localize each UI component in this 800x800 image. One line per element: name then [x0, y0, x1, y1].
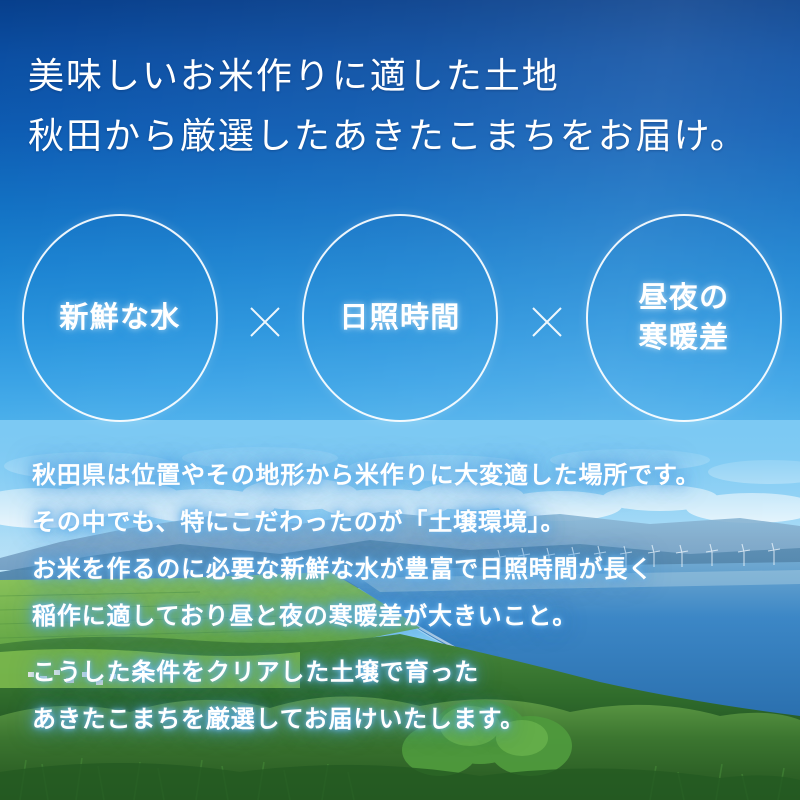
body-copy: 秋田県は位置やその地形から米作りに大変適した場所です。 その中でも、特にこだわっ…	[32, 452, 772, 743]
multiply-icon-2	[527, 302, 567, 342]
headline-line-2: 秋田から厳選したあきたこまちをお届け。	[28, 106, 772, 166]
body-line-3: お米を作るのに必要な新鮮な水が豊富で日照時間が長く	[32, 546, 772, 593]
factor-circle-fresh-water: 新鮮な水	[22, 214, 218, 422]
body-line-6: あきたこまちを厳選してお届けいたします。	[32, 696, 772, 743]
factor-circle-temp-range: 昼夜の 寒暖差	[586, 214, 782, 422]
headline-line-1: 美味しいお米作りに適した土地	[28, 46, 772, 106]
factor-label-fresh-water: 新鮮な水	[59, 298, 180, 338]
body-line-4: 稲作に適しており昼と夜の寒暖差が大きいこと。	[32, 593, 772, 640]
headline: 美味しいお米作りに適した土地 秋田から厳選したあきたこまちをお届け。	[28, 46, 772, 166]
factor-label-temp-range-line-1: 昼夜の	[639, 278, 730, 318]
body-line-5: こうした条件をクリアした土壌で育った	[32, 649, 772, 696]
factor-circles-row: 新鮮な水 日照時間 昼夜の 寒暖差	[0, 214, 800, 422]
factor-label-temp-range-line-2: 寒暖差	[639, 318, 730, 358]
factor-circle-sunshine-hours: 日照時間	[302, 214, 498, 422]
body-line-2: その中でも、特にこだわったのが「土壌環境」。	[32, 499, 772, 546]
body-line-1: 秋田県は位置やその地形から米作りに大変適した場所です。	[32, 452, 772, 499]
body-paragraph-gap	[32, 640, 772, 649]
multiply-icon-1	[245, 302, 285, 342]
product-story-banner: 美味しいお米作りに適した土地 秋田から厳選したあきたこまちをお届け。 新鮮な水 …	[0, 0, 800, 800]
factor-label-sunshine-hours: 日照時間	[339, 298, 460, 338]
